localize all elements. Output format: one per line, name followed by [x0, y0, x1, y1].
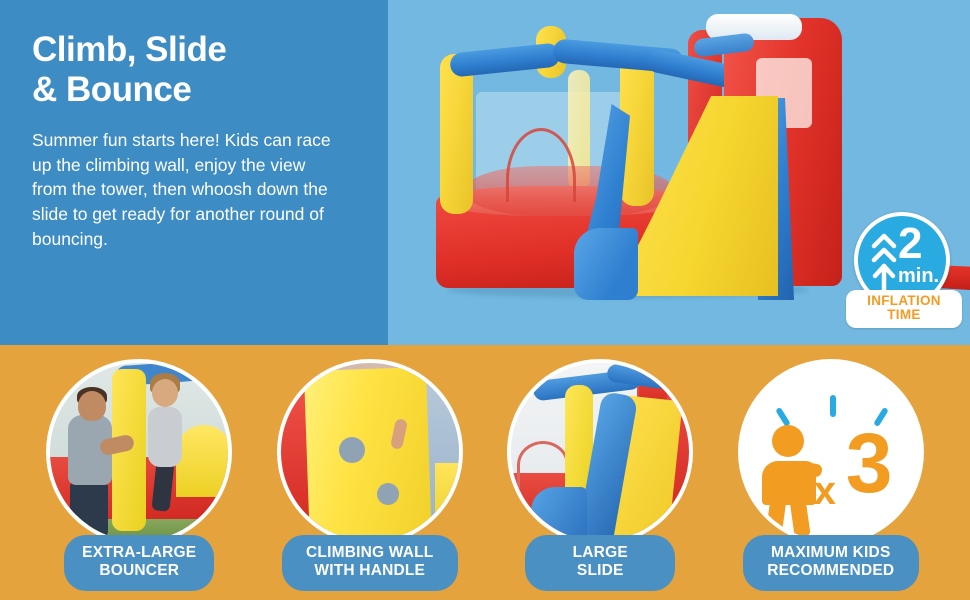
inflation-time-badge: 2 min. INFLATION TIME: [848, 212, 958, 330]
feature-label: CLIMBING WALL WITH HANDLE: [282, 535, 458, 591]
yellow-blue-slide-photo: [511, 363, 689, 541]
feature-label: EXTRA-LARGE BOUNCER: [64, 535, 214, 591]
yellow-post-left: [440, 54, 473, 214]
copy-panel: Climb, Slide & Bounce Summer fun starts …: [0, 0, 388, 345]
badge-caption: INFLATION TIME: [846, 290, 962, 328]
infographic-page: Climb, Slide & Bounce Summer fun starts …: [0, 0, 970, 600]
top-section: Climb, Slide & Bounce Summer fun starts …: [0, 0, 970, 345]
kids-count: 3: [846, 421, 893, 505]
feature-label: MAXIMUM KIDS RECOMMENDED: [743, 535, 919, 591]
double-chevron-up-arrow-icon: [871, 230, 897, 296]
spark-tick-center: [830, 395, 836, 417]
feature-label: LARGE SLIDE: [525, 535, 675, 591]
max-kids-icon: x 3: [742, 363, 920, 541]
slide-exit-curl: [574, 228, 638, 300]
yellow-climbing-wall-photo: [281, 363, 459, 541]
feature-photo-circle: [46, 359, 232, 545]
badge-unit: min.: [898, 266, 939, 286]
person-head-icon: [772, 425, 804, 457]
headline-line-1: Climb, Slide: [32, 30, 226, 69]
feature-photo-circle: [507, 359, 693, 545]
feature-climbing-wall: CLIMBING WALL WITH HANDLE: [264, 359, 476, 591]
feature-photo-circle: [277, 359, 463, 545]
feature-strip: EXTRA-LARGE BOUNCER CLIMBING WALL WITH H…: [0, 345, 970, 600]
page-title: Climb, Slide & Bounce: [32, 30, 362, 110]
feature-extra-large-bouncer: EXTRA-LARGE BOUNCER: [33, 359, 245, 591]
feature-icon-circle: x 3: [738, 359, 924, 545]
feature-large-slide: LARGE SLIDE: [494, 359, 706, 591]
adult-and-child-bouncing-photo: [50, 363, 228, 541]
multiplier-symbol: x: [814, 471, 836, 511]
feature-maximum-kids: x 3 MAXIMUM KIDS RECOMMENDED: [725, 359, 937, 591]
body-copy: Summer fun starts here! Kids can race up…: [32, 128, 342, 252]
headline-line-2: & Bounce: [32, 70, 191, 109]
badge-number: 2: [898, 222, 922, 266]
